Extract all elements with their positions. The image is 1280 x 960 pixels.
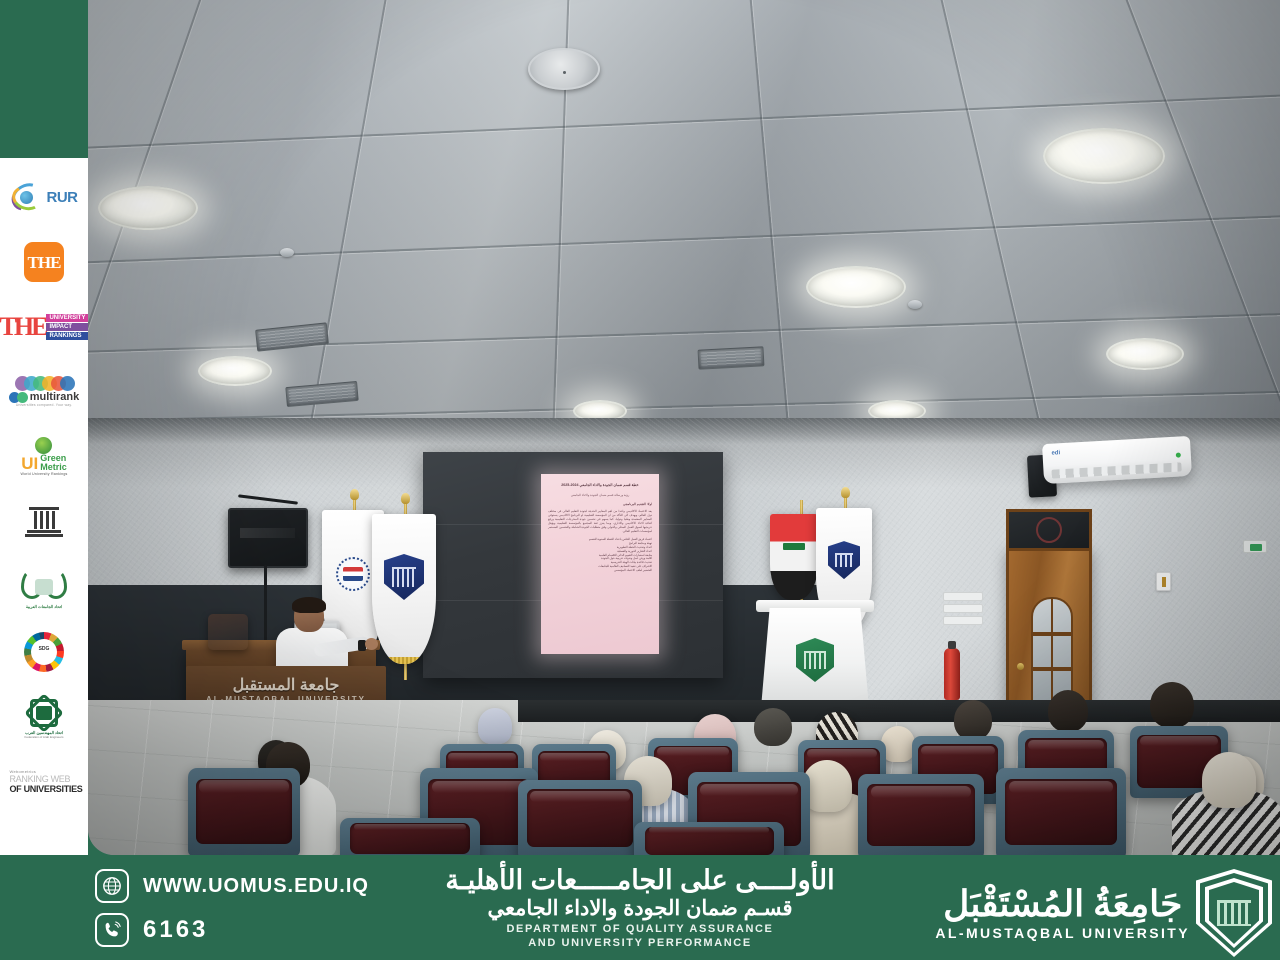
slide-bullet: التحضير لملف الاعتماد المؤسسي <box>548 569 652 573</box>
attendee-head <box>881 726 915 762</box>
the-logo: THE <box>4 231 84 293</box>
rur-logo: RUR <box>4 166 84 228</box>
footer-brand-english: AL-MUSTAQBAL UNIVERSITY <box>935 924 1190 942</box>
door-transom-window <box>1006 509 1092 551</box>
temple-icon <box>25 507 63 537</box>
webometrics-logo: Webometrics RANKING WEB OF UNIVERSITIES <box>4 751 84 813</box>
podium <box>761 608 869 708</box>
presenter <box>276 600 348 674</box>
arab-universities-logo: اتحاد الجامعات العربية <box>4 556 84 618</box>
auditorium-seat <box>634 822 784 855</box>
rur-arc-icon <box>11 182 45 212</box>
university-emblem-icon <box>384 554 424 600</box>
ceiling-speaker <box>528 48 600 90</box>
wall-sign-arabic: جامعة المستقبل <box>233 677 340 695</box>
ministry-temple-logo <box>4 491 84 553</box>
auditorium-seat <box>188 768 300 855</box>
fae-label-en: Federation of Arab Engineers <box>24 736 63 739</box>
greenmetric-caption: World University Rankings <box>20 473 67 477</box>
impact-line-3: RANKINGS <box>46 332 88 340</box>
exit-sign <box>1243 540 1267 553</box>
attendee-head <box>754 708 792 746</box>
bag <box>208 614 248 650</box>
slide-heading: خطة قسم ضمان الجودة والاداء الجامعي 2024… <box>548 483 652 488</box>
ceiling-vent <box>255 322 329 351</box>
ceiling-light <box>98 186 198 230</box>
attendee-head <box>954 700 992 740</box>
sdg-wheel-icon: SDG <box>24 632 64 672</box>
auditorium-seat <box>996 768 1126 855</box>
attendee-head <box>1048 690 1088 732</box>
footer-brand-block: جَامِعَةُ المُسْتَقْبَل AL-MUSTAQBAL UNI… <box>935 869 1272 957</box>
multirank-logo: multirank Universities compared. Your wa… <box>4 361 84 423</box>
projection-screen-board: خطة قسم ضمان الجودة والاداء الجامعي 2024… <box>423 452 723 678</box>
footer-bar: WWW.UOMUS.EDU.IQ 6163 الأولــــى على الج… <box>0 855 1280 960</box>
auditorium-seat <box>858 774 984 855</box>
ceiling <box>88 0 1280 470</box>
ceiling-light <box>806 266 906 308</box>
multirank-label: multirank <box>30 392 80 403</box>
laurel-wreath-icon: اتحاد الجامعات العربية <box>19 566 69 608</box>
podium-emblem-icon <box>796 638 834 682</box>
greenmetric-u-label: UI <box>21 455 38 472</box>
globe-icon <box>20 191 33 204</box>
power-sockets[interactable] <box>943 592 985 624</box>
ac-status-led <box>1176 452 1181 457</box>
slide-subheading: رؤية ورسالة قسم ضمان الجودة والاداء الجا… <box>548 493 652 497</box>
attendee-head <box>1202 752 1256 808</box>
footer-brand-arabic: جَامِعَةُ المُسْتَقْبَل <box>943 884 1182 924</box>
light-switch[interactable] <box>1156 572 1171 591</box>
wall-monitor <box>228 508 308 568</box>
ceiling-light <box>1106 338 1184 370</box>
al-mustaqbal-university-flag <box>374 502 436 680</box>
smoke-detector <box>908 300 922 309</box>
webometrics-line-3: OF UNIVERSITIES <box>9 784 82 794</box>
greenmetric-metric-label: Metric <box>40 463 67 472</box>
ceiling-vent <box>285 381 358 407</box>
the-label: THE <box>28 254 61 271</box>
auditorium-seat <box>518 780 642 855</box>
ministry-emblem-icon <box>336 557 370 591</box>
accreditation-logo-panel: RUR THE THE UNIVERSITY IMPACT RANKINGS <box>0 158 88 855</box>
multirank-dot2-icon <box>17 392 28 403</box>
sdg-wheel-logo: SDG <box>4 621 84 683</box>
webometrics-line-2: RANKING WEB <box>9 774 70 784</box>
university-emblem-icon <box>828 541 860 579</box>
ac-brand-label: edi <box>1051 450 1060 456</box>
green-globe-icon <box>35 437 52 454</box>
smoke-detector <box>280 248 294 257</box>
university-shield-logo-icon <box>1196 869 1272 957</box>
poster-root: RUR THE THE UNIVERSITY IMPACT RANKINGS <box>0 0 1280 960</box>
multirank-circles-icon <box>15 376 69 391</box>
the-impact-logo: THE UNIVERSITY IMPACT RANKINGS <box>4 296 84 358</box>
slide-bullet-list: اعتماد فريق العمل الخاص باعداد الخطة الس… <box>548 538 652 572</box>
fire-extinguisher <box>944 648 960 700</box>
event-photograph: خطة قسم ضمان الجودة والاداء الجامعي 2024… <box>88 0 1280 855</box>
sdg-label: SDG <box>24 646 64 652</box>
attendee-head <box>478 708 512 744</box>
ceiling-light <box>198 356 272 386</box>
rur-label: RUR <box>47 190 78 205</box>
slide-body-text: يعد الاعتماد الاكاديمي واحدا من اهم المع… <box>548 510 652 533</box>
ui-greenmetric-logo: UI Green Metric World University Ranking… <box>4 426 84 488</box>
presentation-slide: خطة قسم ضمان الجودة والاداء الجامعي 2024… <box>541 474 659 654</box>
impact-line-1: UNIVERSITY <box>46 314 88 322</box>
door-knob-icon[interactable] <box>1017 663 1024 670</box>
multirank-tagline: Universities compared. Your way. <box>16 404 72 407</box>
air-conditioner: edi <box>1042 436 1192 484</box>
eight-point-star-icon <box>27 696 61 730</box>
ceiling-light <box>1043 128 1165 184</box>
attendee-head <box>1150 682 1194 728</box>
impact-line-2: IMPACT <box>46 323 88 331</box>
slide-section-title: اولا: التقديم البرنامجي <box>548 502 652 506</box>
the-impact-label: THE <box>0 314 45 340</box>
auditorium-seat <box>340 818 480 855</box>
federation-arab-engineers-logo: اتحاد المهندسين العرب Federation of Arab… <box>4 686 84 748</box>
arab-universities-label: اتحاد الجامعات العربية <box>19 605 69 609</box>
ceiling-vent <box>698 346 765 369</box>
